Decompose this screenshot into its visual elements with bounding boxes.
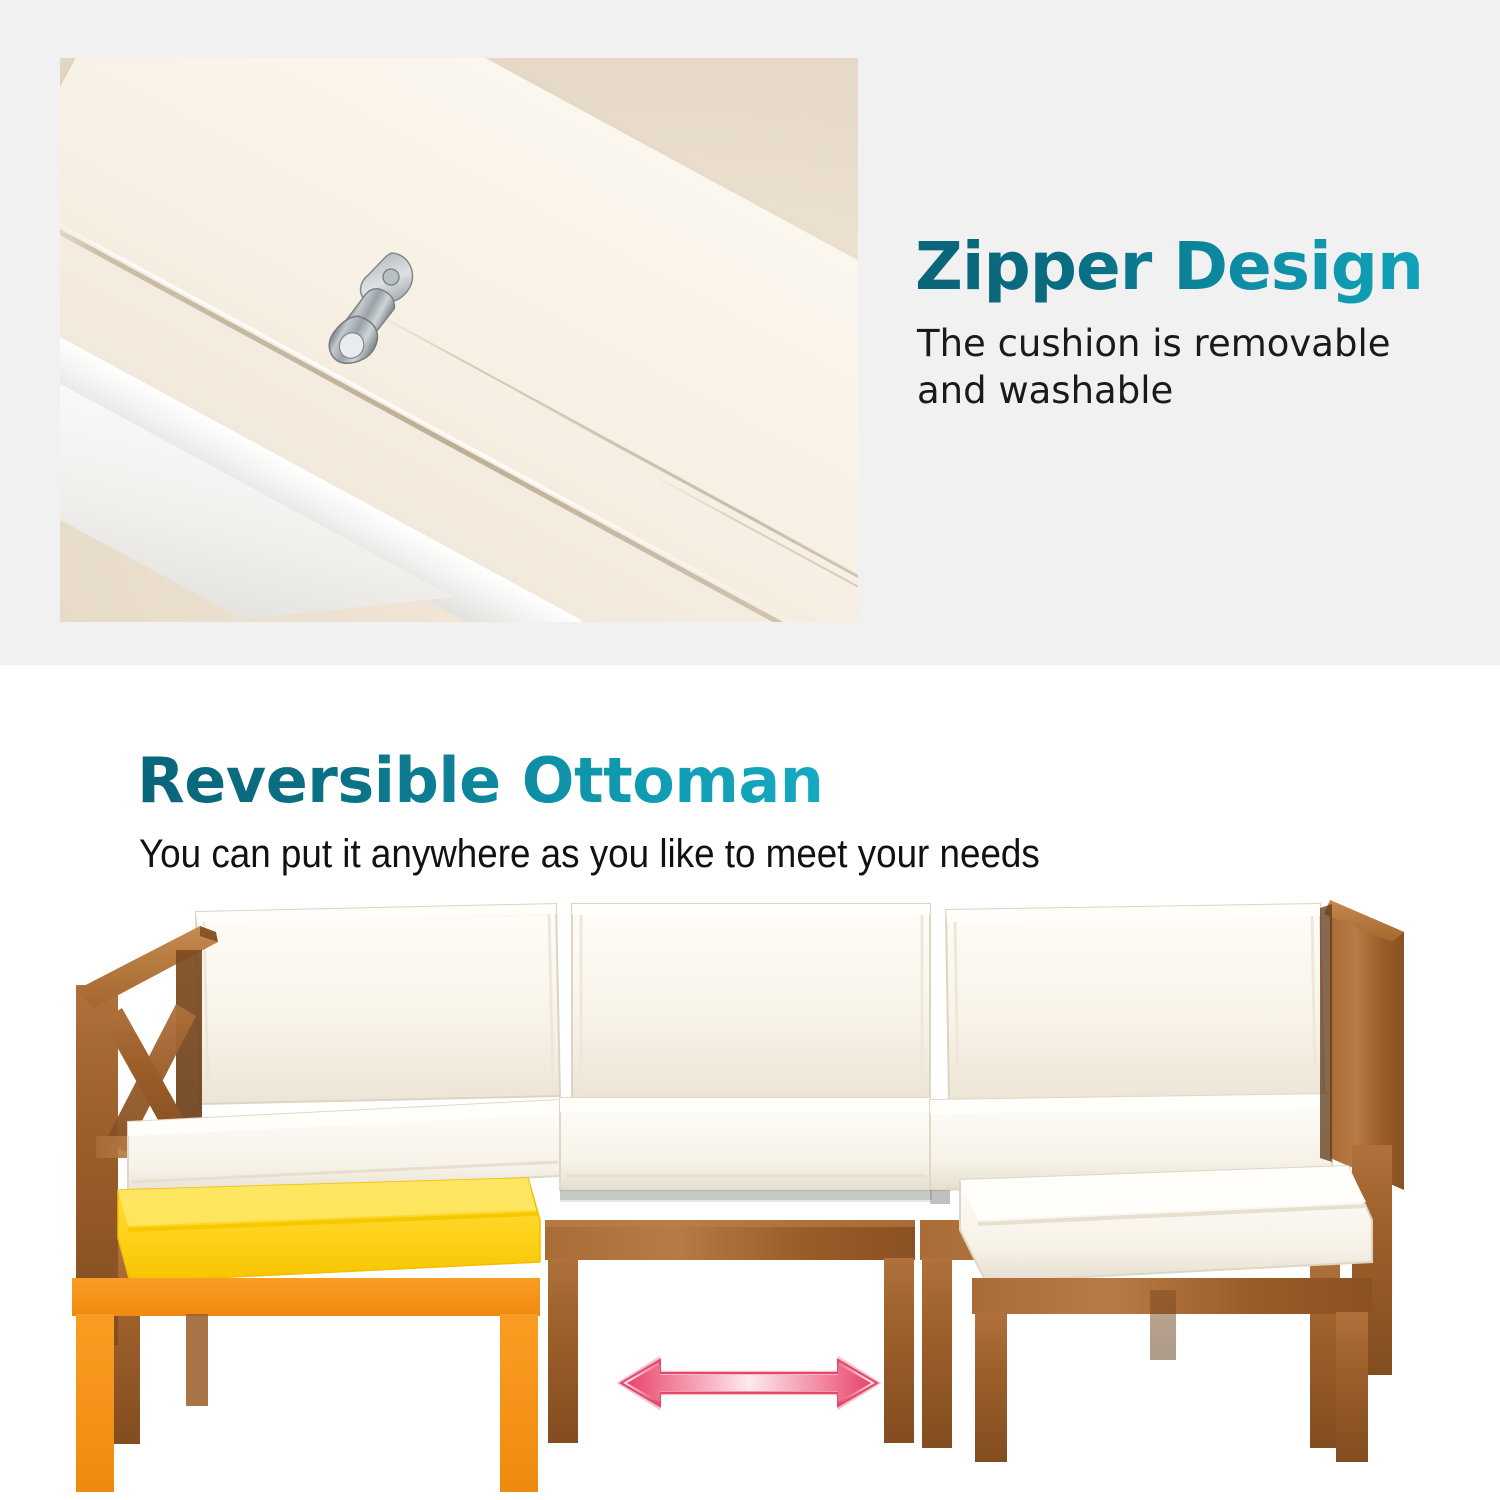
back-cushion-right [946, 904, 1324, 1102]
seat-cushion-middle [560, 1098, 930, 1202]
reversible-ottoman-title: Reversible Ottoman [137, 745, 823, 817]
zipper-design-title: Zipper Design [915, 228, 1455, 306]
zipper-closeup-photo [60, 58, 858, 622]
zipper-subtitle-line2: and washable [917, 369, 1173, 412]
reversible-ottoman-section: Reversible Ottoman You can put it anywhe… [0, 665, 1500, 1500]
zipper-design-subtitle: The cushion is removableand washable [917, 320, 1455, 414]
back-cushion-left [196, 904, 560, 1104]
ottoman-left-highlighted [72, 1178, 540, 1492]
zipper-text-block: Zipper Design The cushion is removablean… [915, 228, 1455, 414]
back-cushion-middle [572, 904, 930, 1098]
reversible-direction-arrow-icon [613, 1352, 885, 1414]
zipper-subtitle-line1: The cushion is removable [917, 322, 1390, 365]
zipper-design-section: Zipper Design The cushion is removablean… [0, 0, 1500, 665]
reversible-ottoman-subtitle: You can put it anywhere as you like to m… [139, 830, 1040, 878]
